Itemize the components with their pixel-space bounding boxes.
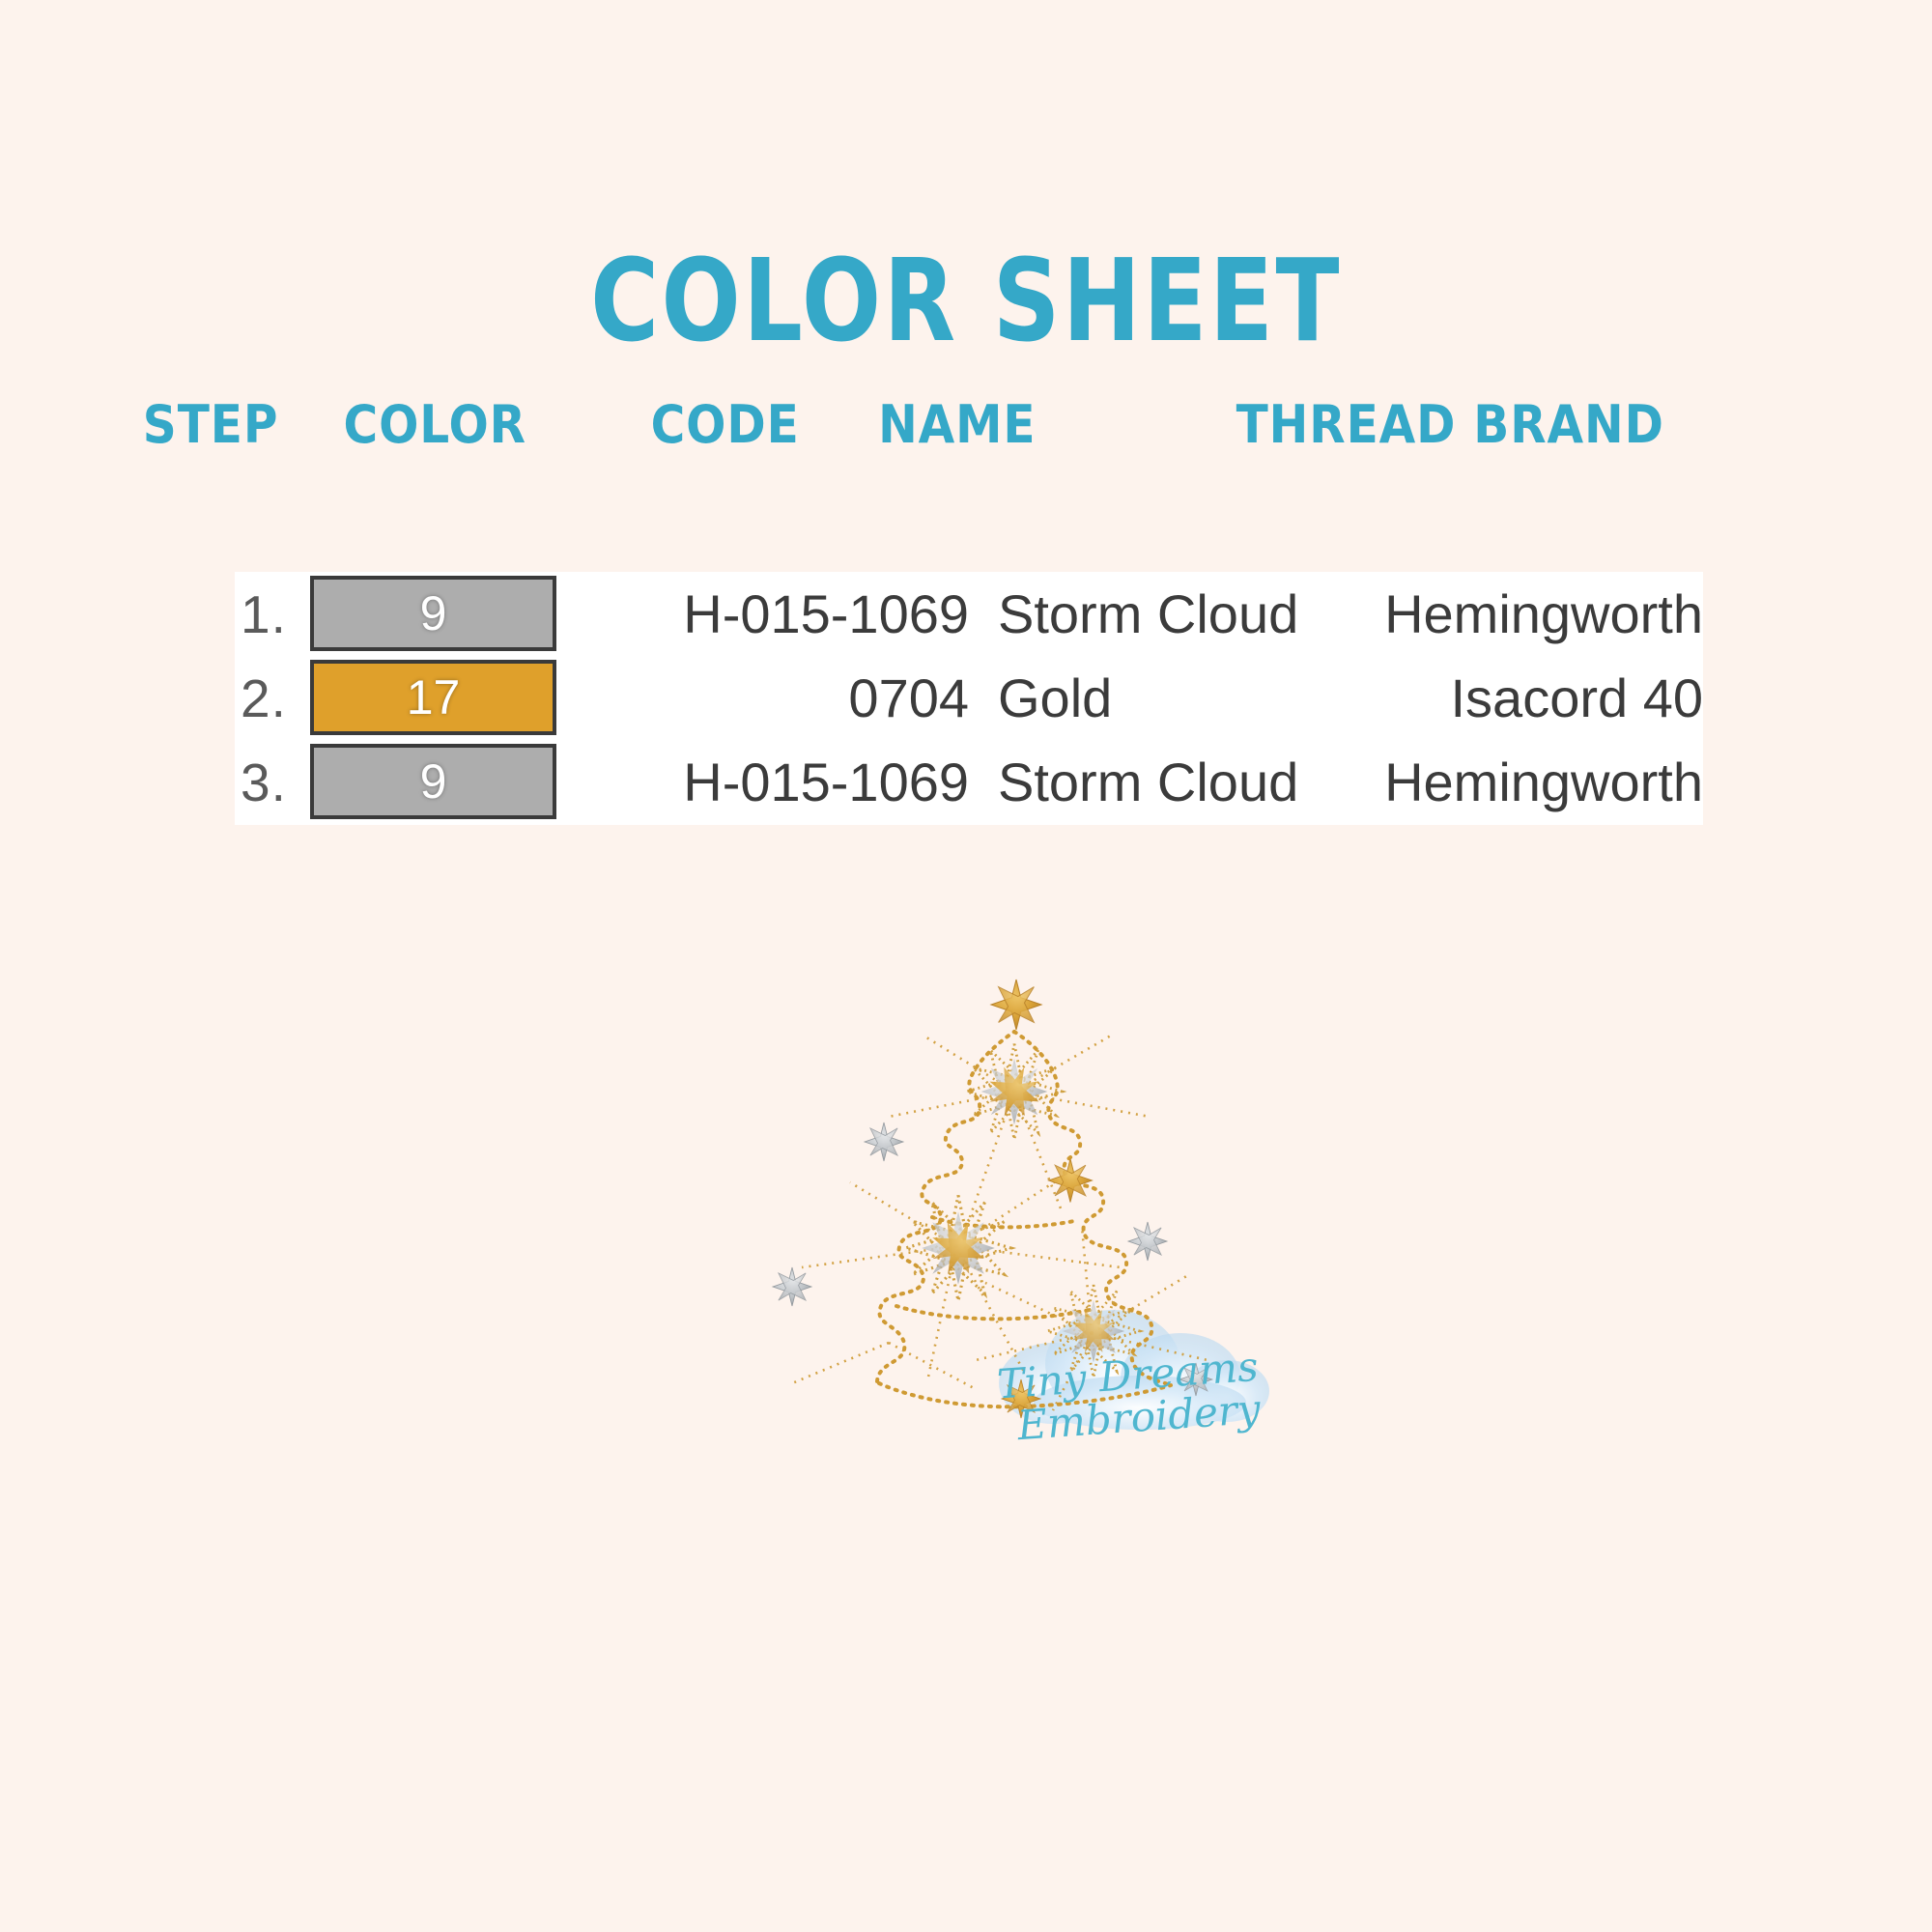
swatch-number: 17 xyxy=(407,669,461,725)
color-swatch: 9 xyxy=(310,576,556,651)
color-swatch: 17 xyxy=(310,660,556,735)
thread-code: H-015-1069 xyxy=(582,582,969,645)
table-row: 2. 17 0704 Gold Isacord 40 xyxy=(235,656,1703,740)
thread-brand: Hemingworth xyxy=(1375,751,1722,813)
header-color: COLOR xyxy=(344,396,526,453)
star-topper-gold xyxy=(980,969,1052,1040)
star-upper-large xyxy=(950,1027,1080,1157)
swatch-number: 9 xyxy=(420,585,447,641)
page-title: COLOR SHEET xyxy=(174,243,1758,357)
thread-brand: Isacord 40 xyxy=(1375,667,1722,729)
swatch-number: 9 xyxy=(420,753,447,810)
table-row: 3. 9 H-015-1069 Storm Cloud Hemingworth xyxy=(235,740,1703,824)
thread-name: Storm Cloud xyxy=(998,751,1404,813)
thread-name: Gold xyxy=(998,667,1404,729)
table-row: 1. 9 H-015-1069 Storm Cloud Hemingworth xyxy=(235,572,1703,656)
color-table: 1. 9 H-015-1069 Storm Cloud Hemingworth … xyxy=(235,572,1703,825)
star-silver-upper-left xyxy=(857,1115,912,1170)
star-gold-mid xyxy=(1039,1150,1101,1211)
cloud-base xyxy=(999,1310,1269,1430)
step-number: 2. xyxy=(241,668,314,729)
header-step: STEP xyxy=(143,396,279,453)
header-code: CODE xyxy=(651,396,800,453)
thread-code: 0704 xyxy=(582,667,969,729)
header-name: NAME xyxy=(878,396,1036,453)
thread-brand: Hemingworth xyxy=(1375,582,1722,645)
column-headers: STEP COLOR CODE NAME THREAD BRAND xyxy=(0,396,1932,464)
embroidery-design-preview xyxy=(734,927,1333,1526)
thread-name: Storm Cloud xyxy=(998,582,1404,645)
star-silver-mid-right xyxy=(1121,1214,1176,1269)
header-thread-brand: THREAD BRAND xyxy=(1236,396,1664,453)
step-number: 3. xyxy=(241,752,314,813)
color-swatch: 9 xyxy=(310,744,556,819)
step-number: 1. xyxy=(241,583,314,645)
star-middle-large xyxy=(886,1176,1030,1320)
thread-code: H-015-1069 xyxy=(582,751,969,813)
star-silver-lower-left xyxy=(765,1260,820,1315)
